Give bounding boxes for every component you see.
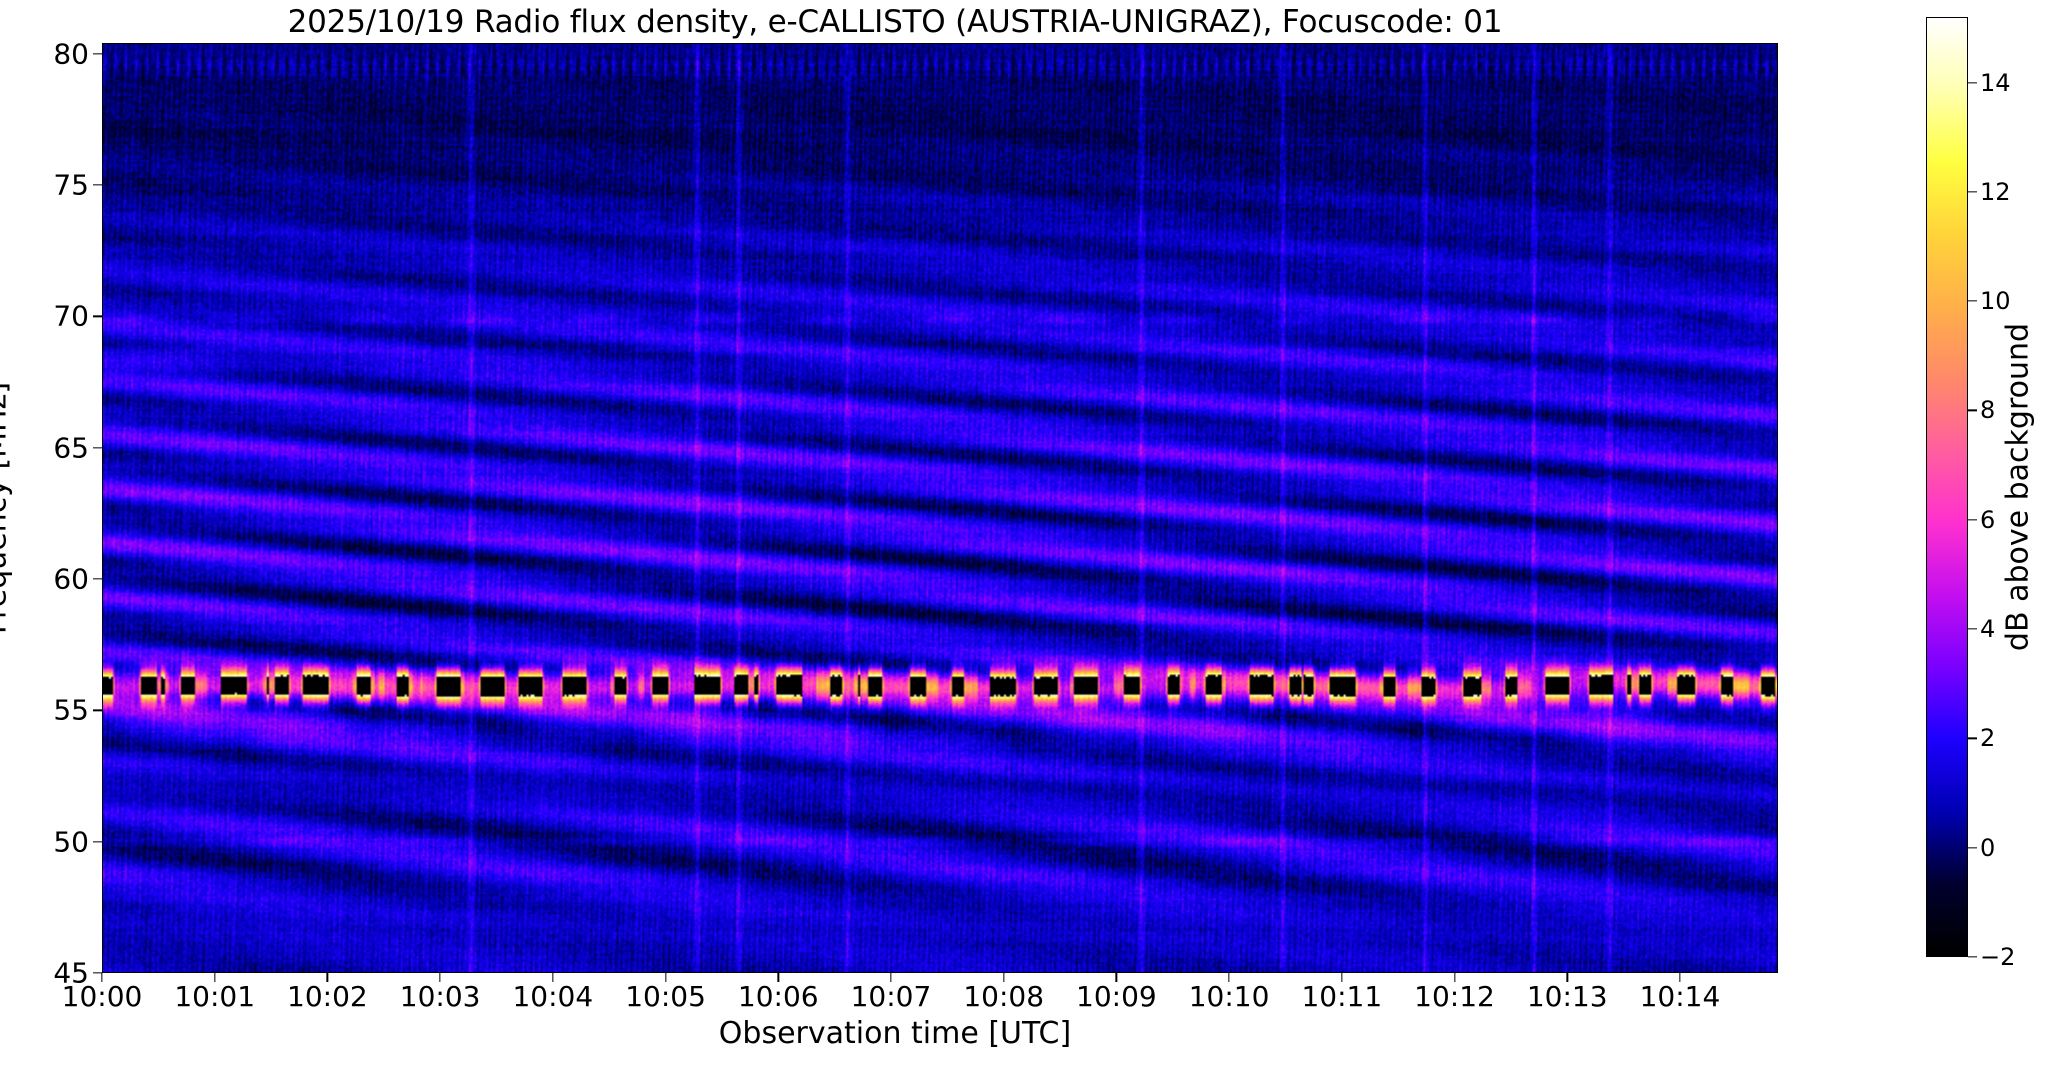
colorbar-tick-label: 14	[1980, 69, 2011, 97]
colorbar-tick-mark	[1968, 301, 1977, 302]
colorbar-tick-label: 8	[1980, 396, 1995, 424]
colorbar-tick-mark	[1968, 956, 1977, 957]
x-tick-mark	[1679, 973, 1680, 982]
colorbar-tick-mark	[1968, 82, 1977, 83]
spectrogram-image	[103, 44, 1777, 972]
colorbar-tick-mark	[1968, 410, 1977, 411]
x-tick-label: 10:14	[1640, 980, 1721, 1013]
y-tick-mark	[93, 53, 102, 54]
x-axis-label: Observation time [UTC]	[0, 1016, 1790, 1051]
x-tick-mark	[327, 973, 328, 982]
colorbar-tick-label: 4	[1980, 615, 1995, 643]
x-tick-mark	[552, 973, 553, 982]
colorbar-canvas	[1927, 18, 1967, 956]
colorbar[interactable]	[1926, 17, 1968, 957]
x-tick-label: 10:13	[1527, 980, 1608, 1013]
y-tick-label: 80	[53, 37, 89, 70]
x-tick-mark	[1454, 973, 1455, 982]
x-tick-label: 10:12	[1414, 980, 1495, 1013]
colorbar-tick-mark	[1968, 628, 1977, 629]
x-tick-mark	[890, 973, 891, 982]
x-tick-mark	[101, 973, 102, 982]
y-tick-label: 75	[53, 168, 89, 201]
x-tick-label: 10:04	[512, 980, 593, 1013]
x-tick-label: 10:00	[62, 980, 143, 1013]
x-tick-mark	[1341, 973, 1342, 982]
colorbar-gradient	[1926, 17, 1968, 957]
y-tick-mark	[93, 841, 102, 842]
x-tick-mark	[214, 973, 215, 982]
colorbar-tick-label: −2	[1980, 943, 2015, 971]
y-tick-label: 65	[53, 431, 89, 464]
x-tick-label: 10:05	[625, 980, 706, 1013]
x-tick-mark	[439, 973, 440, 982]
colorbar-tick-label: 6	[1980, 506, 1995, 534]
x-tick-mark	[1228, 973, 1229, 982]
colorbar-tick-label: 0	[1980, 834, 1995, 862]
x-tick-label: 10:02	[287, 980, 368, 1013]
y-tick-mark	[93, 316, 102, 317]
spectrogram-figure: 2025/10/19 Radio flux density, e-CALLIST…	[0, 0, 2047, 1067]
x-tick-label: 10:10	[1189, 980, 1270, 1013]
x-tick-label: 10:09	[1076, 980, 1157, 1013]
y-tick-mark	[93, 578, 102, 579]
y-tick-label: 55	[53, 694, 89, 727]
y-tick-label: 50	[53, 825, 89, 858]
colorbar-tick-mark	[1968, 738, 1977, 739]
x-tick-mark	[1567, 973, 1568, 982]
x-tick-label: 10:01	[174, 980, 255, 1013]
x-tick-mark	[778, 973, 779, 982]
colorbar-tick-label: 10	[1980, 287, 2011, 315]
colorbar-tick-label: 2	[1980, 724, 1995, 752]
y-tick-mark	[93, 972, 102, 973]
y-axis-label: Frequency [MHz]	[0, 382, 14, 634]
colorbar-tick-mark	[1968, 847, 1977, 848]
x-tick-mark	[1003, 973, 1004, 982]
y-tick-mark	[93, 710, 102, 711]
y-tick-mark	[93, 447, 102, 448]
colorbar-tick-mark	[1968, 191, 1977, 192]
x-tick-label: 10:06	[738, 980, 819, 1013]
y-tick-label: 70	[53, 300, 89, 333]
colorbar-tick-mark	[1968, 519, 1977, 520]
colorbar-label: dB above background	[2001, 323, 2036, 651]
x-tick-mark	[665, 973, 666, 982]
x-tick-label: 10:11	[1301, 980, 1382, 1013]
spectrogram-plot-area[interactable]	[102, 43, 1778, 973]
page-title: 2025/10/19 Radio flux density, e-CALLIST…	[0, 4, 1790, 40]
x-tick-label: 10:03	[400, 980, 481, 1013]
x-tick-label: 10:08	[963, 980, 1044, 1013]
colorbar-tick-label: 12	[1980, 178, 2011, 206]
x-tick-label: 10:07	[851, 980, 932, 1013]
y-tick-mark	[93, 184, 102, 185]
y-tick-label: 60	[53, 562, 89, 595]
x-tick-mark	[1116, 973, 1117, 982]
